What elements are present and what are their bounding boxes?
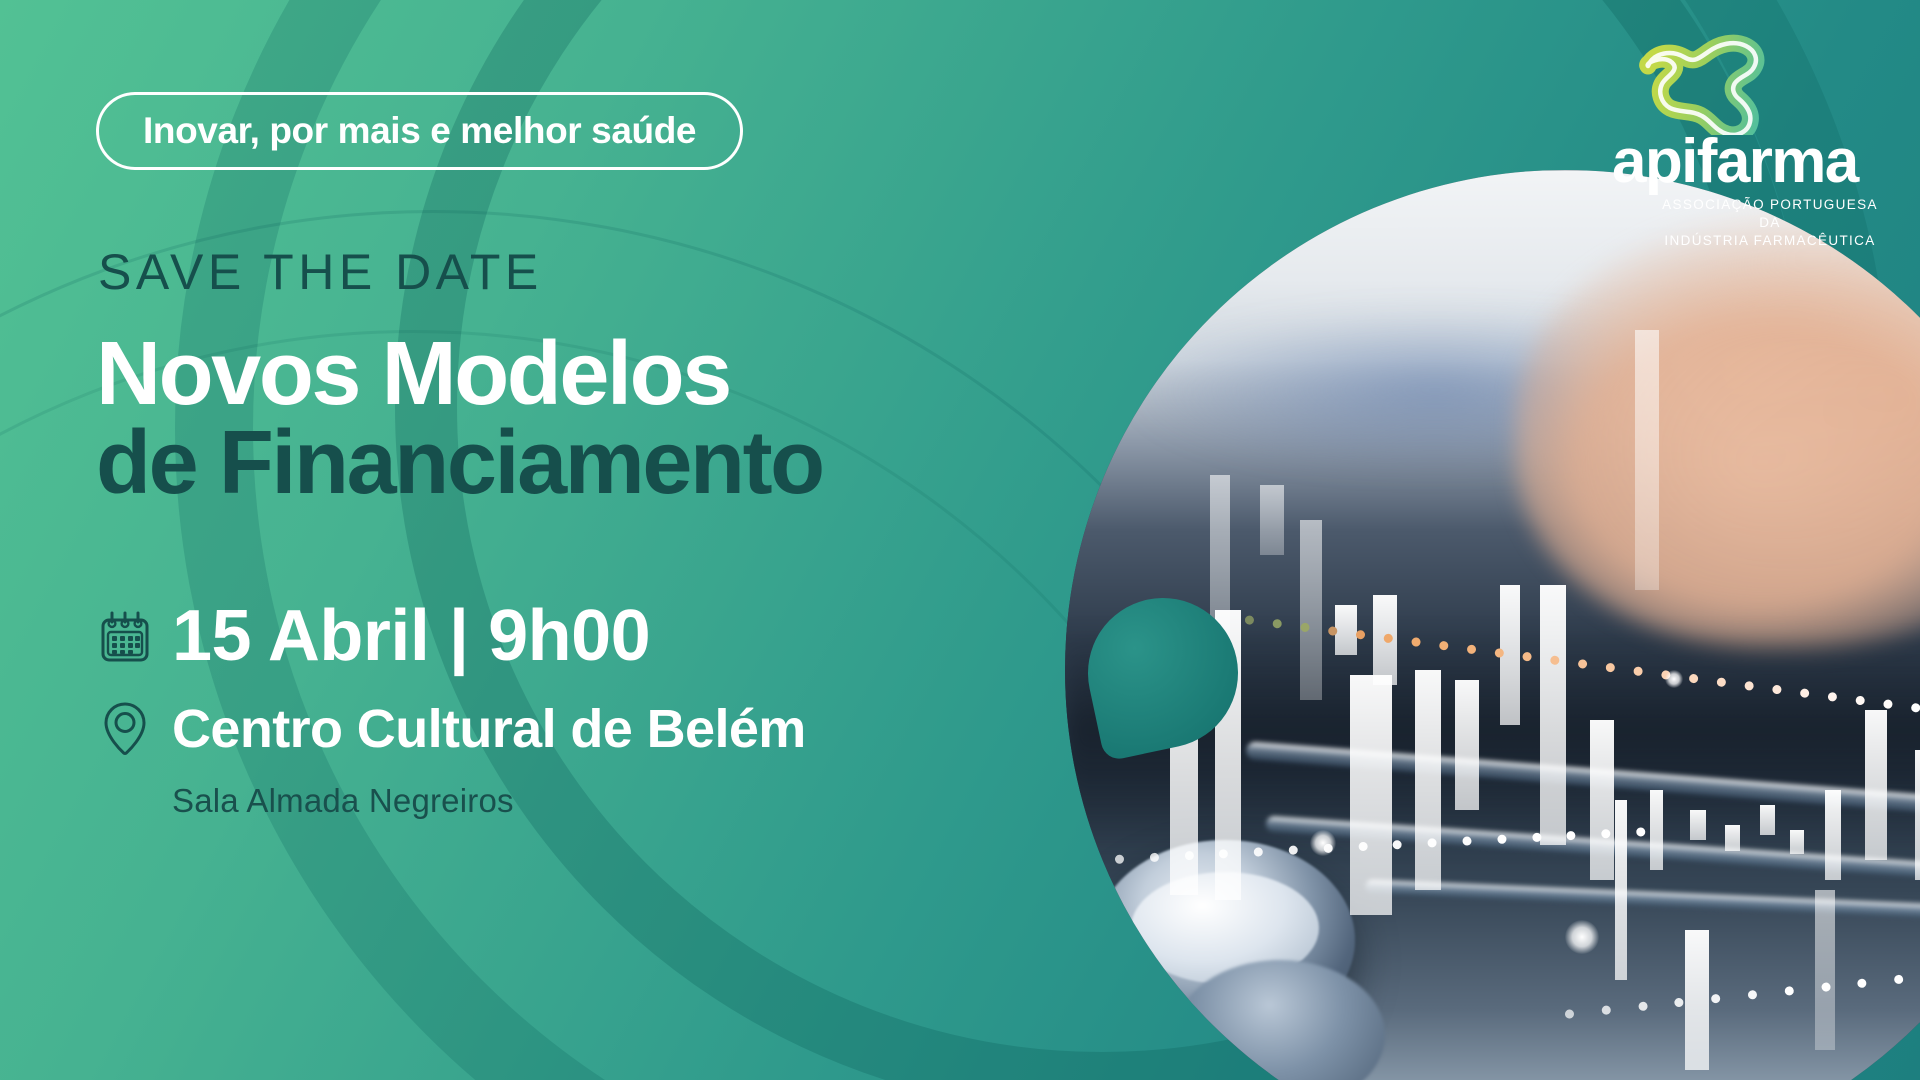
apifarma-subtitle-line-1: ASSOCIAÇÃO PORTUGUESA DA — [1656, 196, 1884, 232]
location-pin-icon — [96, 698, 154, 760]
event-date-time: 15 Abril | 9h00 — [172, 600, 650, 672]
page-eyebrow: SAVE THE DATE — [98, 243, 543, 301]
event-room-name: Sala Almada Negreiros — [172, 782, 514, 820]
tagline-pill: Inovar, por mais e melhor saúde — [96, 92, 743, 170]
tagline-text: Inovar, por mais e melhor saúde — [143, 110, 696, 152]
page-title-line-1: Novos Modelos — [96, 330, 823, 419]
apifarma-subtitle: ASSOCIAÇÃO PORTUGUESA DA INDÚSTRIA FARMA… — [1604, 196, 1884, 251]
apifarma-wordmark: apifarma — [1612, 135, 1884, 190]
apifarma-logo: apifarma ASSOCIAÇÃO PORTUGUESA DA INDÚST… — [1604, 30, 1884, 250]
apifarma-blob-mark-icon — [1604, 30, 1884, 135]
photo-glow-dot — [1665, 670, 1683, 688]
page-title-line-2: de Financiamento — [96, 419, 823, 508]
photo-glow-dot — [1310, 830, 1336, 856]
event-details: 15 Abril | 9h00 Centro Cultural de Belém… — [96, 600, 806, 760]
photo-glow-dot — [1565, 920, 1599, 954]
apifarma-subtitle-line-2: INDÚSTRIA FARMACÊUTICA — [1656, 232, 1884, 250]
event-date-row: 15 Abril | 9h00 — [96, 600, 806, 672]
calendar-icon — [96, 605, 154, 667]
event-venue-row: Centro Cultural de Belém — [96, 698, 806, 760]
page-title: Novos Modelos de Financiamento — [96, 330, 823, 508]
save-the-date-banner: Inovar, por mais e melhor saúde SAVE THE… — [0, 0, 1920, 1080]
event-venue-name: Centro Cultural de Belém — [172, 702, 806, 756]
